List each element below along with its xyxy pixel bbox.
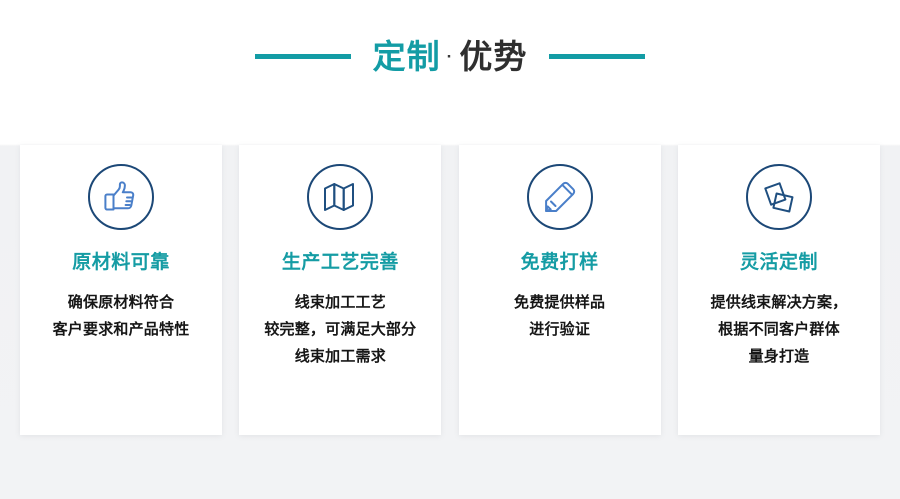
feature-card[interactable]: 免费打样 免费提供样品 进行验证 [459, 145, 661, 435]
thumbs-up-icon [103, 180, 139, 214]
feature-card[interactable]: 原材料可靠 确保原材料符合 客户要求和产品特性 [20, 145, 222, 435]
card-description: 免费提供样品 进行验证 [459, 289, 661, 343]
description-line: 较完整，可满足大部分 [245, 316, 435, 343]
description-line: 量身打造 [684, 343, 874, 370]
description-line: 进行验证 [465, 316, 655, 343]
stacked-sheets-icon [761, 181, 797, 214]
card-title: 灵活定制 [740, 253, 818, 272]
heading-accent-text: 定制 [373, 40, 441, 73]
description-line: 线束加工需求 [245, 343, 435, 370]
card-description: 提供线束解决方案， 根据不同客户群体 量身打造 [678, 289, 880, 370]
card-title: 原材料可靠 [72, 253, 170, 272]
icon-circle [746, 164, 812, 230]
card-title: 生产工艺完善 [282, 253, 399, 272]
card-description: 线束加工工艺 较完整，可满足大部分 线束加工需求 [239, 289, 441, 370]
description-line: 根据不同客户群体 [684, 316, 874, 343]
description-line: 线束加工工艺 [245, 289, 435, 316]
feature-card-list: 原材料可靠 确保原材料符合 客户要求和产品特性 生产工艺完善 线束加工工艺 [20, 145, 880, 435]
feature-card[interactable]: 灵活定制 提供线束解决方案， 根据不同客户群体 量身打造 [678, 145, 880, 435]
description-line: 客户要求和产品特性 [26, 316, 216, 343]
card-title: 免费打样 [521, 253, 599, 272]
card-description: 确保原材料符合 客户要求和产品特性 [20, 289, 222, 343]
heading-text: 定制 · 优势 [373, 40, 528, 73]
heading-rule-left [255, 54, 351, 59]
icon-circle [307, 164, 373, 230]
icon-circle [527, 164, 593, 230]
description-line: 确保原材料符合 [26, 289, 216, 316]
icon-circle [88, 164, 154, 230]
feature-card[interactable]: 生产工艺完善 线束加工工艺 较完整，可满足大部分 线束加工需求 [239, 145, 441, 435]
description-line: 免费提供样品 [465, 289, 655, 316]
description-line: 提供线束解决方案， [684, 289, 874, 316]
section-heading: 定制 · 优势 [0, 28, 900, 84]
advantages-section: 定制 · 优势 原材料可靠 确保原材料符合 客户要求和产品特性 [0, 0, 900, 499]
heading-main-text: 优势 [459, 40, 527, 73]
pencil-icon [543, 180, 577, 214]
folded-map-icon [323, 182, 357, 212]
heading-rule-right [549, 54, 645, 59]
heading-separator-dot: · [441, 48, 460, 65]
